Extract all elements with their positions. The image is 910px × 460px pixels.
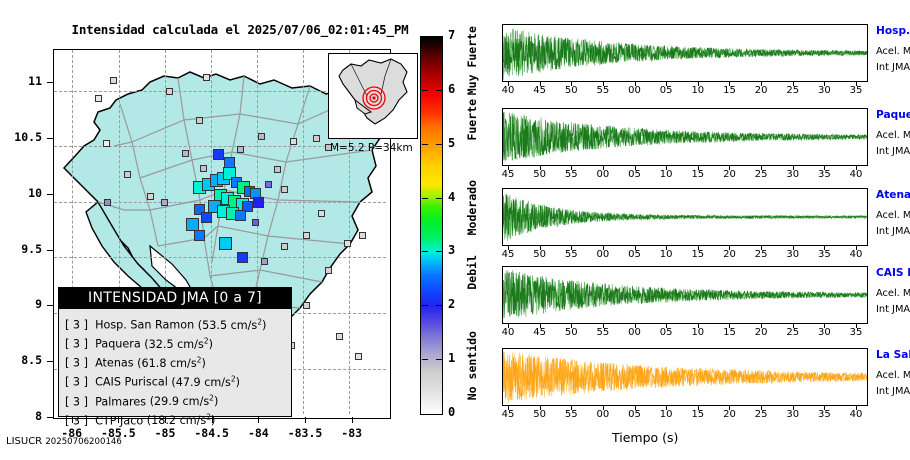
station-marker[interactable] bbox=[235, 210, 246, 221]
legend-accel: (32.5 cm/s2) bbox=[144, 338, 213, 351]
waveform-tick-label: 00 bbox=[592, 409, 614, 420]
legend-station: Hosp. San Ramon bbox=[95, 319, 194, 332]
map-y-tick-mark bbox=[47, 138, 53, 139]
waveform-tick-label: 00 bbox=[592, 169, 614, 180]
waveform-tick-label: 55 bbox=[560, 169, 582, 180]
waveform-station-name[interactable]: Paquera bbox=[876, 109, 910, 121]
station-marker[interactable] bbox=[359, 232, 366, 239]
legend-station: Paquera bbox=[95, 338, 141, 351]
station-marker[interactable] bbox=[124, 171, 131, 178]
waveform-tick-label: 55 bbox=[592, 85, 614, 96]
colorbar-tick-label: 1 bbox=[448, 351, 455, 365]
map-y-tick-mark bbox=[47, 82, 53, 83]
waveform-max-accel: Acel. Max. 2.0 bbox=[876, 370, 910, 381]
legend-intensity: [ 3 ] bbox=[65, 376, 88, 389]
colorbar-tick-mark bbox=[422, 198, 428, 199]
station-marker[interactable] bbox=[182, 150, 189, 157]
waveform-station-name[interactable]: Atenas bbox=[876, 189, 910, 201]
legend-accel: (53.5 cm/s2) bbox=[198, 319, 267, 332]
waveform-tick-label: 25 bbox=[782, 85, 804, 96]
colorbar-tick-mark bbox=[422, 144, 428, 145]
station-marker[interactable] bbox=[336, 333, 343, 340]
legend-intensity: [ 3 ] bbox=[65, 319, 88, 332]
station-marker[interactable] bbox=[200, 165, 207, 172]
waveform-trace bbox=[503, 189, 867, 245]
colorbar-category-label: Moderado bbox=[465, 180, 479, 235]
waveform-tick-label: 30 bbox=[813, 85, 835, 96]
epicenter-icon bbox=[363, 87, 385, 109]
station-marker[interactable] bbox=[281, 243, 288, 250]
waveform-jma-intensity: Int JMA: 3 bbox=[876, 226, 910, 237]
station-marker[interactable] bbox=[147, 193, 154, 200]
map-y-tick-label: 9.5 bbox=[2, 242, 42, 256]
station-marker[interactable] bbox=[344, 240, 351, 247]
station-marker[interactable] bbox=[325, 267, 332, 274]
waveform-tick-label: 50 bbox=[560, 327, 582, 338]
legend-accel: (61.8 cm/s2) bbox=[137, 357, 206, 370]
waveform-tick-label: 30 bbox=[813, 327, 835, 338]
waveform-tick-label: 30 bbox=[782, 169, 804, 180]
waveform-tick-label: 15 bbox=[718, 327, 740, 338]
colorbar-tick-label: 4 bbox=[448, 190, 455, 204]
colorbar-tick-mark bbox=[422, 90, 428, 91]
station-marker[interactable] bbox=[303, 302, 310, 309]
waveform-tick-label: 15 bbox=[687, 169, 709, 180]
waveform-tick-label: 10 bbox=[655, 169, 677, 180]
waveform-tick-label: 40 bbox=[845, 409, 867, 420]
colorbar-tick-mark bbox=[422, 251, 428, 252]
legend-intensity: [ 3 ] bbox=[65, 338, 88, 351]
waveform-tick-label: 30 bbox=[782, 249, 804, 260]
footer-code: 20250706200146 bbox=[45, 437, 122, 447]
colorbar-tick-mark bbox=[422, 359, 428, 360]
waveform-station-name[interactable]: La Sabana bbox=[876, 349, 910, 361]
waveform-jma-intensity: Int JMA: 2 bbox=[876, 386, 910, 397]
colorbar-tick-label: 7 bbox=[448, 28, 455, 42]
station-marker[interactable] bbox=[313, 135, 320, 142]
station-marker[interactable] bbox=[194, 230, 205, 241]
waveform-trace bbox=[503, 349, 867, 405]
waveform-tick-label: 40 bbox=[845, 169, 867, 180]
station-marker[interactable] bbox=[237, 146, 244, 153]
waveform-tick-label: 00 bbox=[624, 85, 646, 96]
legend-station: CTP Jaco bbox=[95, 414, 143, 427]
waveform-tick-label: 00 bbox=[592, 249, 614, 260]
waveform-tick-label: 20 bbox=[718, 249, 740, 260]
waveform-tick-label: 10 bbox=[687, 85, 709, 96]
colorbar-tick-mark bbox=[422, 305, 428, 306]
legend-accel: (29.9 cm/s2) bbox=[150, 395, 219, 408]
waveform-tick-label: 55 bbox=[592, 327, 614, 338]
waveform-tick-label: 20 bbox=[750, 85, 772, 96]
waveform-tick-label: 15 bbox=[687, 249, 709, 260]
colorbar-tick-label: 5 bbox=[448, 136, 455, 150]
station-marker[interactable] bbox=[95, 95, 102, 102]
waveform-x-axis-label: Tiempo (s) bbox=[612, 430, 678, 445]
colorbar-tick-label: 3 bbox=[448, 243, 455, 257]
colorbar-category-label: Muy Fuerte bbox=[465, 26, 479, 95]
waveform-tick-label: 30 bbox=[782, 409, 804, 420]
colorbar-tick-mark bbox=[436, 198, 442, 199]
map-x-tick-label: -83 bbox=[325, 426, 379, 440]
colorbar-tick-mark bbox=[436, 144, 442, 145]
waveform-tick-label: 10 bbox=[655, 409, 677, 420]
station-marker[interactable] bbox=[203, 74, 210, 81]
map-y-tick-mark bbox=[47, 194, 53, 195]
waveform-tick-label: 20 bbox=[750, 327, 772, 338]
colorbar-category-label: Fuerte bbox=[465, 99, 479, 141]
colorbar-category-label: Debil bbox=[465, 255, 479, 290]
colorbar-tick-mark bbox=[436, 251, 442, 252]
waveform-jma-intensity: Int JMA: 3 bbox=[876, 304, 910, 315]
map-x-tick-mark bbox=[352, 417, 353, 423]
station-marker[interactable] bbox=[219, 237, 232, 250]
map-y-axis: 88.599.51010.511 bbox=[0, 49, 53, 417]
station-marker[interactable] bbox=[281, 186, 288, 193]
legend-station: CAIS Puriscal bbox=[95, 376, 168, 389]
waveform-trace bbox=[503, 25, 867, 81]
map-y-tick-label: 10 bbox=[2, 186, 42, 200]
legend-row: [ 3 ] Atenas (61.8 cm/s2) bbox=[65, 352, 291, 371]
waveform-tick-label: 05 bbox=[655, 327, 677, 338]
waveform-max-accel: Acel. Max. 3.0 bbox=[876, 288, 910, 299]
station-marker[interactable] bbox=[103, 140, 110, 147]
map-y-tick-label: 10.5 bbox=[2, 130, 42, 144]
waveform-plot[interactable] bbox=[502, 348, 868, 406]
station-marker[interactable] bbox=[355, 353, 362, 360]
legend-row: [ 3 ] CAIS Puriscal (47.9 cm/s2) bbox=[65, 371, 291, 390]
waveform-tick-label: 50 bbox=[560, 85, 582, 96]
footer-credit: LISUCR 20250706200146 bbox=[6, 436, 122, 447]
waveform-tick-label: 05 bbox=[624, 249, 646, 260]
waveform-trace bbox=[503, 109, 867, 165]
station-marker[interactable] bbox=[274, 166, 281, 173]
waveform-tick-label: 05 bbox=[624, 409, 646, 420]
waveform-plot[interactable] bbox=[502, 108, 868, 166]
waveform-jma-intensity: Int JMA: 3 bbox=[876, 146, 910, 157]
station-marker[interactable] bbox=[253, 197, 264, 208]
legend-accel: (47.9 cm/s2) bbox=[171, 376, 240, 389]
waveform-tick-label: 40 bbox=[845, 249, 867, 260]
waveform-tick-label: 25 bbox=[750, 169, 772, 180]
station-marker[interactable] bbox=[166, 88, 173, 95]
inset-geometry bbox=[329, 54, 415, 136]
waveform-trace bbox=[503, 267, 867, 323]
map-y-tick-label: 9 bbox=[2, 297, 42, 311]
magnitude-depth-label: M=5.2 P=34km bbox=[330, 142, 413, 154]
waveform-tick-label: 25 bbox=[750, 409, 772, 420]
legend-row: [ 3 ] Paquera (32.5 cm/s2) bbox=[65, 333, 291, 352]
station-marker[interactable] bbox=[161, 199, 168, 206]
map-y-tick-label: 11 bbox=[2, 74, 42, 88]
page-title: Intensidad calculada el 2025/07/06_02:01… bbox=[60, 22, 420, 37]
waveform-max-accel: Acel. Max. 3.0 bbox=[876, 210, 910, 221]
legend-station-list: [ 3 ] Hosp. San Ramon (53.5 cm/s2)[ 3 ] … bbox=[59, 309, 291, 429]
colorbar-tick-label: 6 bbox=[448, 82, 455, 96]
legend-intensity: [ 3 ] bbox=[65, 395, 88, 408]
station-marker[interactable] bbox=[110, 77, 117, 84]
legend-accel: (18.2 cm/s2) bbox=[147, 414, 216, 427]
waveform-tick-label: 55 bbox=[560, 409, 582, 420]
station-marker[interactable] bbox=[303, 232, 310, 239]
map-y-tick-mark bbox=[47, 250, 53, 251]
waveform-plot[interactable] bbox=[502, 188, 868, 246]
colorbar-tick-label: 0 bbox=[448, 405, 455, 419]
intensity-legend[interactable]: INTENSIDAD JMA [0 a 7] [ 3 ] Hosp. San R… bbox=[58, 287, 292, 417]
map-y-tick-mark bbox=[47, 361, 53, 362]
waveform-tick-label: 25 bbox=[782, 327, 804, 338]
waveform-tick-label: 35 bbox=[813, 409, 835, 420]
legend-title: INTENSIDAD JMA [0 a 7] bbox=[59, 288, 291, 309]
station-marker[interactable] bbox=[213, 149, 224, 160]
colorbar-tick-mark bbox=[436, 305, 442, 306]
map-x-tick-mark bbox=[305, 417, 306, 423]
station-marker[interactable] bbox=[261, 258, 268, 265]
legend-intensity: [ 3 ] bbox=[65, 357, 88, 370]
station-marker[interactable] bbox=[237, 252, 248, 263]
station-marker[interactable] bbox=[290, 138, 297, 145]
station-marker[interactable] bbox=[252, 219, 259, 226]
waveform-station-name[interactable]: Hosp. San Ramon bbox=[876, 25, 910, 37]
waveform-max-accel: Acel. Max. 3.1 bbox=[876, 46, 910, 57]
waveform-plot[interactable] bbox=[502, 266, 868, 324]
colorbar-tick-mark bbox=[436, 359, 442, 360]
station-marker[interactable] bbox=[318, 210, 325, 217]
map-y-tick-label: 8 bbox=[2, 409, 42, 423]
station-marker[interactable] bbox=[104, 199, 111, 206]
waveform-tick-label: 20 bbox=[718, 409, 740, 420]
legend-station: Palmares bbox=[95, 395, 146, 408]
station-marker[interactable] bbox=[265, 181, 272, 188]
waveform-jma-intensity: Int JMA: 3 bbox=[876, 62, 910, 73]
waveform-tick-label: 05 bbox=[624, 169, 646, 180]
waveform-tick-label: 05 bbox=[655, 85, 677, 96]
station-marker[interactable] bbox=[201, 212, 212, 223]
station-marker[interactable] bbox=[258, 133, 265, 140]
map-y-tick-label: 8.5 bbox=[2, 353, 42, 367]
waveform-tick-label: 10 bbox=[687, 327, 709, 338]
legend-intensity: [ 3 ] bbox=[65, 414, 88, 427]
waveform-tick-label: 15 bbox=[687, 409, 709, 420]
legend-row: [ 3 ] Palmares (29.9 cm/s2) bbox=[65, 391, 291, 410]
waveform-tick-label: 20 bbox=[718, 169, 740, 180]
locator-inset-map[interactable] bbox=[328, 53, 418, 139]
station-marker[interactable] bbox=[196, 117, 203, 124]
waveform-tick-label: 25 bbox=[750, 249, 772, 260]
legend-row: [ 3 ] CTP Jaco (18.2 cm/s2) bbox=[65, 410, 291, 429]
waveform-tick-label: 55 bbox=[560, 249, 582, 260]
colorbar-category-label: No sentido bbox=[465, 331, 479, 400]
legend-row: [ 3 ] Hosp. San Ramon (53.5 cm/s2) bbox=[65, 314, 291, 333]
colorbar-tick-mark bbox=[436, 90, 442, 91]
waveform-max-accel: Acel. Max. 3.1 bbox=[876, 130, 910, 141]
waveform-station-name[interactable]: CAIS Puriscal bbox=[876, 267, 910, 279]
waveform-tick-label: 35 bbox=[813, 169, 835, 180]
waveform-tick-label: 00 bbox=[624, 327, 646, 338]
waveform-tick-label: 35 bbox=[845, 85, 867, 96]
waveform-plot[interactable] bbox=[502, 24, 868, 82]
waveform-tick-label: 15 bbox=[718, 85, 740, 96]
colorbar-tick-label: 2 bbox=[448, 297, 455, 311]
footer-agency: LISUCR bbox=[6, 436, 42, 447]
legend-station: Atenas bbox=[95, 357, 134, 370]
waveform-tick-label: 10 bbox=[655, 249, 677, 260]
waveform-tick-label: 35 bbox=[845, 327, 867, 338]
map-y-tick-mark bbox=[47, 305, 53, 306]
waveform-tick-label: 35 bbox=[813, 249, 835, 260]
